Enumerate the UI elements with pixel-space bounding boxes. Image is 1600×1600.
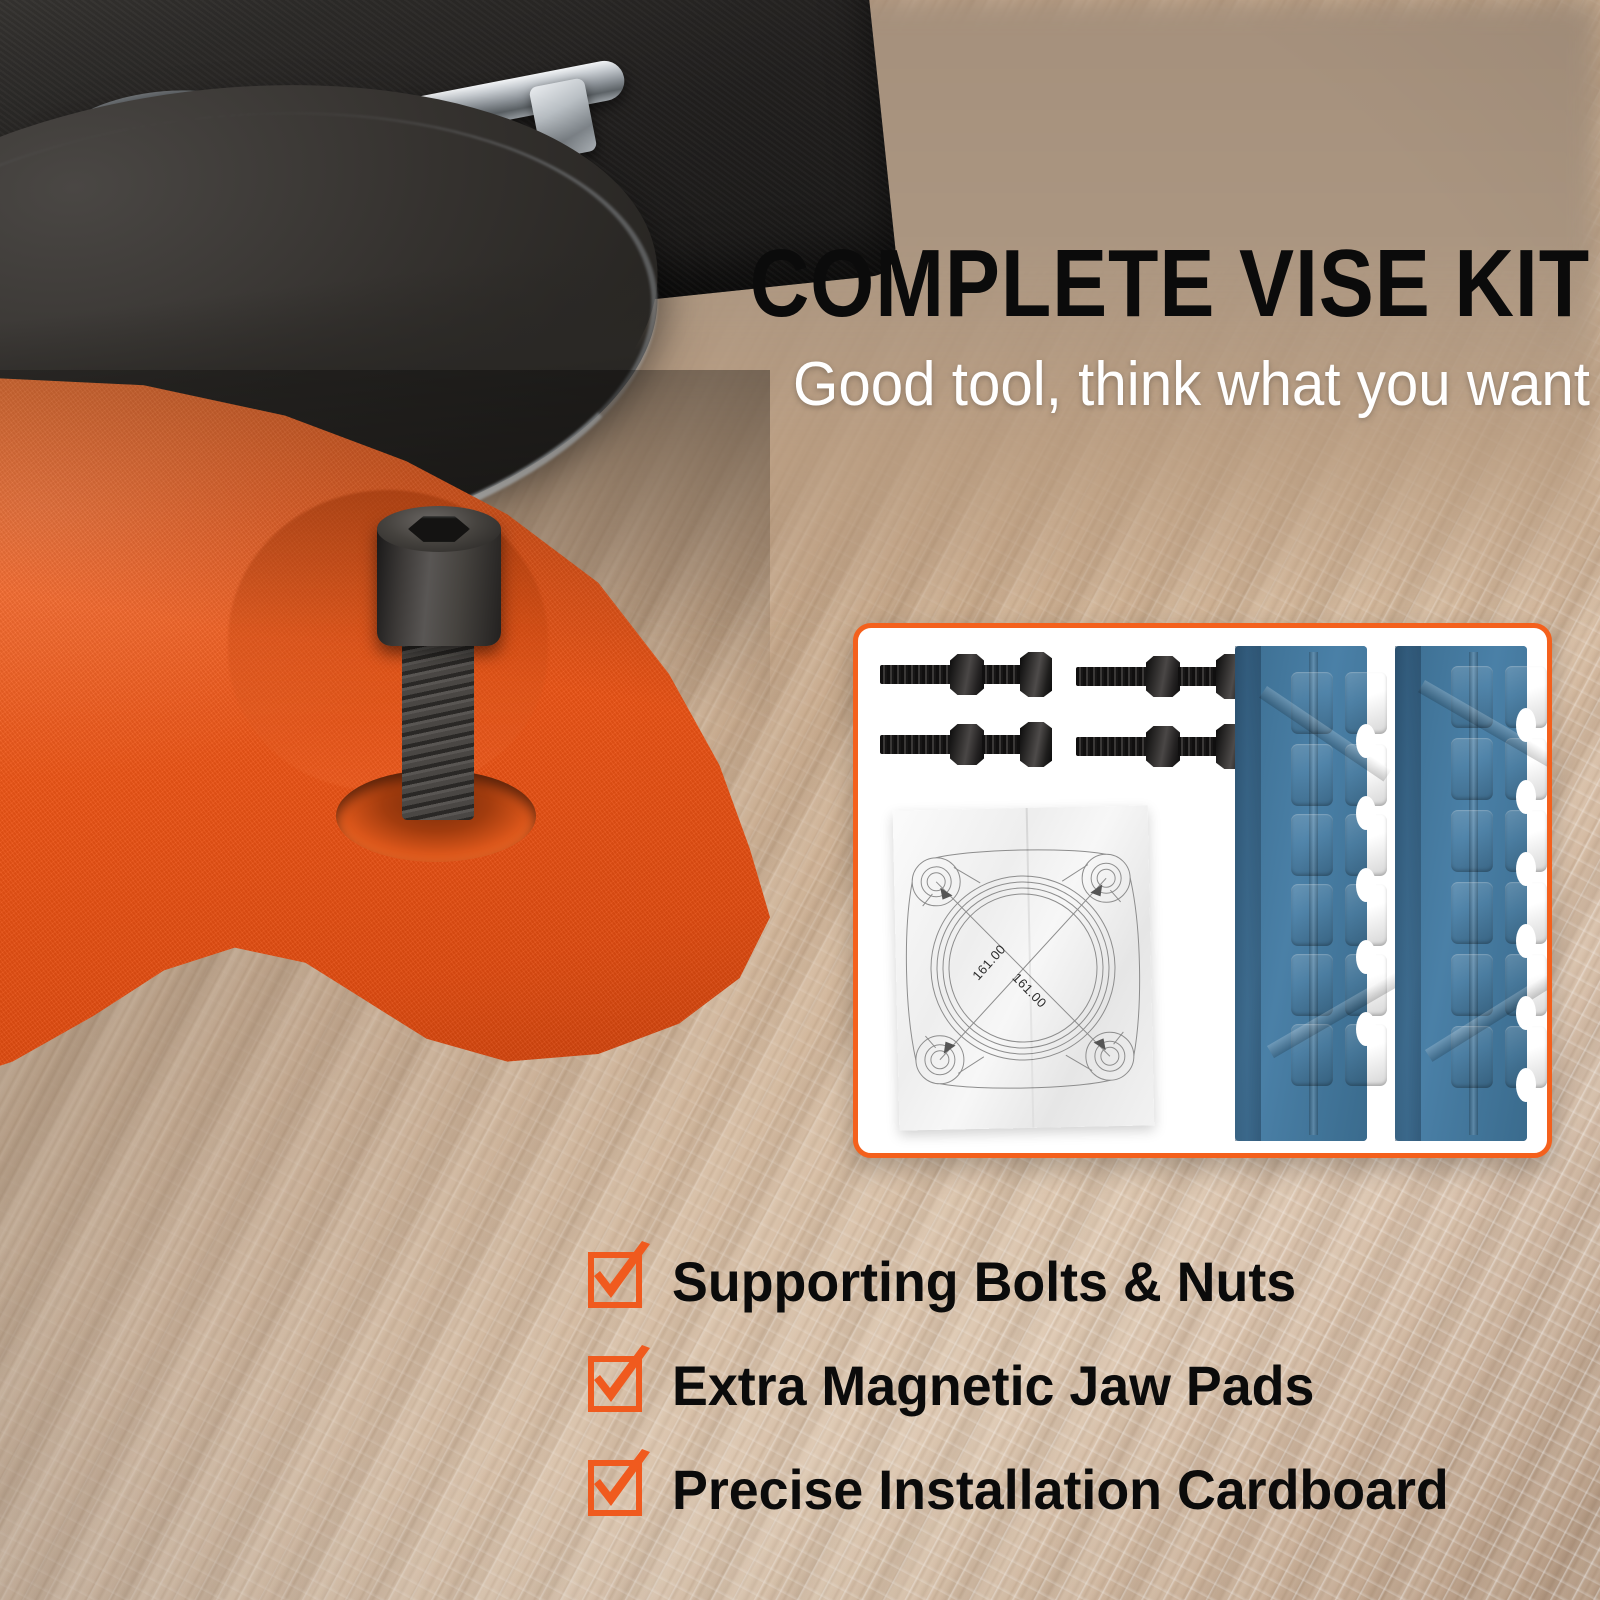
bolt-with-nut [1076, 722, 1246, 770]
jaw-pad-face [1261, 646, 1367, 1141]
magnetic-jaw-pads-group [1235, 646, 1527, 1141]
feature-label: Precise Installation Cardboard [672, 1446, 1449, 1534]
bolt-thread [982, 735, 1026, 754]
hex-nut-icon [1146, 656, 1180, 697]
bolt-thread [880, 665, 954, 684]
bench-vise-photo [0, 0, 820, 1170]
jaw-pad-side [1235, 646, 1262, 1141]
list-item: Precise Installation Cardboard [586, 1446, 1596, 1550]
bolt-thread [982, 665, 1026, 684]
bolt-with-nut [880, 650, 1050, 698]
jaw-pad [1235, 646, 1367, 1141]
check-mark-icon [584, 1344, 656, 1418]
product-marketing-image: COMPLETE VISE KIT Good tool, think what … [0, 0, 1600, 1600]
jaw-pad [1395, 646, 1527, 1141]
page-subtitle: Good tool, think what you want [659, 352, 1590, 417]
list-item: Extra Magnetic Jaw Pads [586, 1342, 1596, 1446]
jaw-pad-side [1395, 646, 1422, 1141]
check-mark-icon [584, 1240, 656, 1314]
checkbox-checked-icon [586, 1454, 648, 1516]
accessories-panel: 161.00 161.00 [853, 623, 1552, 1158]
checkbox-checked-icon [586, 1246, 648, 1308]
list-item: Supporting Bolts & Nuts [586, 1238, 1596, 1342]
bolt-thread [1178, 667, 1222, 686]
checkbox-checked-icon [586, 1350, 648, 1412]
bolt-thread [880, 735, 954, 754]
hex-nut-icon [950, 654, 984, 695]
bolt-thread [1178, 737, 1222, 756]
page-title: COMPLETE VISE KIT [739, 238, 1590, 330]
feature-label: Supporting Bolts & Nuts [672, 1238, 1296, 1326]
bolts-and-nuts-group [880, 650, 1250, 790]
check-mark-icon [584, 1448, 656, 1522]
hex-nut-icon [1146, 726, 1180, 767]
installation-cardboard-drawing: 161.00 161.00 [893, 805, 1155, 1130]
technical-drawing-svg [893, 805, 1155, 1130]
hex-head-icon [1020, 722, 1052, 767]
bolt-thread [1076, 667, 1150, 686]
feature-list: Supporting Bolts & Nuts Extra Magnetic J… [586, 1238, 1596, 1550]
jaw-pad-face [1421, 646, 1527, 1141]
bolt-with-nut [1076, 652, 1246, 700]
hex-head-icon [1020, 652, 1052, 697]
hex-nut-icon [950, 724, 984, 765]
bolt-thread [1076, 737, 1150, 756]
bolt-with-nut [880, 720, 1050, 768]
cap-screw-threaded-shaft [402, 630, 474, 820]
feature-label: Extra Magnetic Jaw Pads [672, 1342, 1314, 1430]
